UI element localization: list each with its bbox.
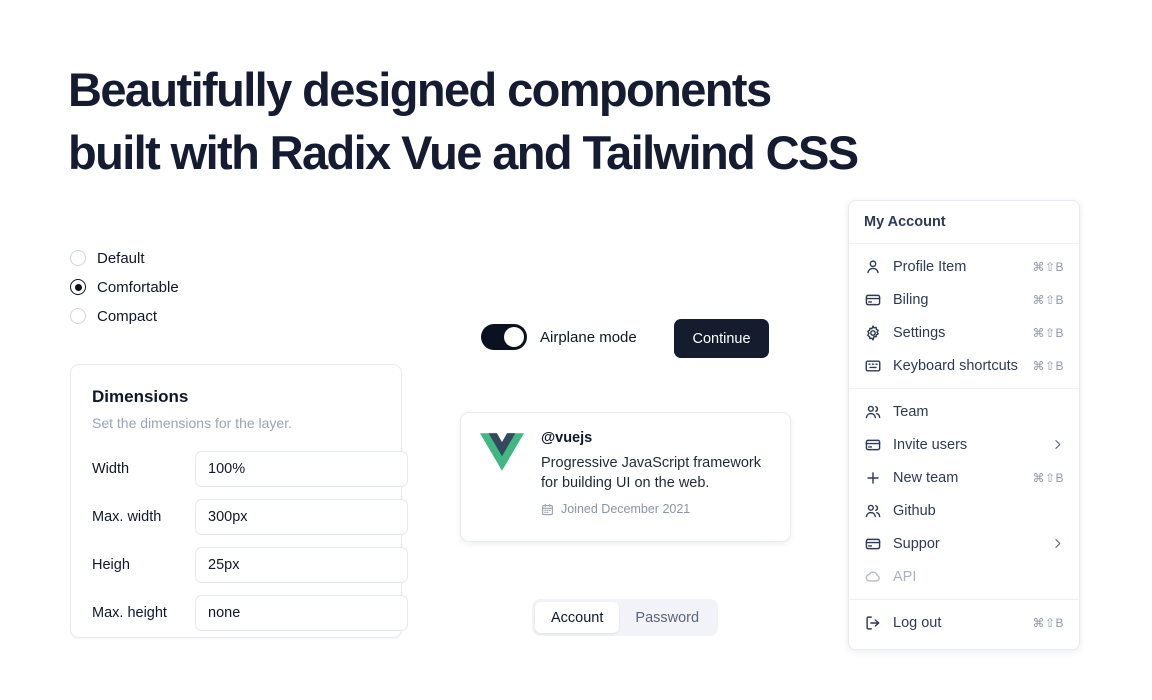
- dimension-label-max-width: Max. width: [92, 509, 195, 525]
- radio-label: Default: [97, 250, 145, 267]
- card-icon: [864, 291, 881, 308]
- menu-item-label: New team: [893, 470, 1020, 486]
- airplane-mode-switch[interactable]: [481, 324, 527, 350]
- menu-item-shortcut: ⌘⇧B: [1032, 471, 1064, 485]
- menu-item-label: Settings: [893, 325, 1020, 341]
- density-radio-group: DefaultComfortableCompact: [70, 248, 179, 326]
- chevron-right-icon: [1051, 537, 1064, 550]
- switch-knob: [504, 327, 524, 347]
- menu-item-label: Log out: [893, 615, 1020, 631]
- hero-section: Beautifully designed components built wi…: [68, 58, 1028, 184]
- dimension-row: Heigh: [92, 547, 380, 583]
- menu-item-api: API: [849, 560, 1079, 593]
- radio-indicator[interactable]: [70, 250, 86, 266]
- menu-groups: Profile Item⌘⇧BBiling⌘⇧BSettings⌘⇧BKeybo…: [849, 244, 1079, 645]
- menu-item-shortcut: ⌘⇧B: [1032, 359, 1064, 373]
- airplane-mode-label: Airplane mode: [540, 329, 637, 346]
- menu-item-new-team[interactable]: New team⌘⇧B: [849, 461, 1079, 494]
- radio-label: Compact: [97, 308, 157, 325]
- radio-indicator[interactable]: [70, 279, 86, 295]
- vuejs-description: Progressive JavaScript framework for bui…: [541, 453, 771, 493]
- radio-indicator[interactable]: [70, 308, 86, 324]
- dimension-row: Max. height: [92, 595, 380, 631]
- menu-item-shortcut: ⌘⇧B: [1032, 326, 1064, 340]
- menu-item-shortcut: ⌘⇧B: [1032, 293, 1064, 307]
- chevron-right-icon: [1051, 438, 1064, 451]
- page-title: Beautifully designed components built wi…: [68, 58, 1028, 184]
- menu-item-shortcut: ⌘⇧B: [1032, 260, 1064, 274]
- user-icon: [864, 258, 881, 275]
- dimension-label-max-height: Max. height: [92, 605, 195, 621]
- page-root: Beautifully designed components built wi…: [0, 0, 1152, 700]
- dimension-row: Max. width: [92, 499, 380, 535]
- menu-item-label: Team: [893, 404, 1064, 420]
- dimension-input-max-height[interactable]: [195, 595, 408, 631]
- menu-item-label: Profile Item: [893, 259, 1020, 275]
- dimension-label-width: Width: [92, 461, 195, 477]
- continue-button[interactable]: Continue: [674, 319, 769, 358]
- menu-group: TeamInvite usersNew team⌘⇧BGithubSupporA…: [849, 389, 1079, 599]
- cloud-icon: [864, 568, 881, 585]
- plus-icon: [864, 469, 881, 486]
- joined-text: Joined December 2021: [561, 502, 690, 516]
- tab-password[interactable]: Password: [619, 602, 715, 633]
- radio-option-comfortable[interactable]: Comfortable: [70, 277, 179, 297]
- menu-item-profile-item[interactable]: Profile Item⌘⇧B: [849, 250, 1079, 283]
- hover-card-body: @vuejs Progressive JavaScript framework …: [541, 430, 771, 524]
- calendar-icon: [541, 503, 554, 516]
- settings-tabs: AccountPassword: [532, 599, 718, 636]
- users-icon: [864, 502, 881, 519]
- logout-icon: [864, 614, 881, 631]
- menu-item-label: API: [893, 569, 1064, 585]
- keyboard-icon: [864, 357, 881, 374]
- radio-option-compact[interactable]: Compact: [70, 306, 179, 326]
- menu-item-github[interactable]: Github: [849, 494, 1079, 527]
- menu-item-label: Keyboard shortcuts: [893, 358, 1020, 374]
- vuejs-hover-card: @vuejs Progressive JavaScript framework …: [460, 412, 791, 542]
- dimensions-field-list: WidthMax. widthHeighMax. height: [92, 451, 380, 631]
- account-dropdown-menu: My Account Profile Item⌘⇧BBiling⌘⇧BSetti…: [848, 200, 1080, 650]
- menu-item-biling[interactable]: Biling⌘⇧B: [849, 283, 1079, 316]
- radio-label: Comfortable: [97, 279, 179, 296]
- dimension-input-width[interactable]: [195, 451, 408, 487]
- joined-row: Joined December 2021: [541, 502, 771, 516]
- gear-icon: [864, 324, 881, 341]
- dimension-label-heigh: Heigh: [92, 557, 195, 573]
- vue-logo-icon: [480, 432, 524, 472]
- radio-option-default[interactable]: Default: [70, 248, 179, 268]
- page-title-line-1: Beautifully designed components: [68, 58, 1028, 121]
- menu-item-label: Suppor: [893, 536, 1039, 552]
- menu-item-suppor[interactable]: Suppor: [849, 527, 1079, 560]
- airplane-mode-row: Airplane mode: [481, 324, 637, 350]
- menu-item-team[interactable]: Team: [849, 395, 1079, 428]
- dimensions-title: Dimensions: [92, 387, 380, 407]
- tab-account[interactable]: Account: [535, 602, 619, 633]
- menu-item-log-out[interactable]: Log out⌘⇧B: [849, 606, 1079, 639]
- dimensions-subtitle: Set the dimensions for the layer.: [92, 415, 380, 431]
- menu-item-label: Invite users: [893, 437, 1039, 453]
- card-icon: [864, 535, 881, 552]
- menu-group: Profile Item⌘⇧BBiling⌘⇧BSettings⌘⇧BKeybo…: [849, 244, 1079, 388]
- card-icon: [864, 436, 881, 453]
- menu-item-invite-users[interactable]: Invite users: [849, 428, 1079, 461]
- vuejs-handle: @vuejs: [541, 430, 771, 446]
- menu-item-shortcut: ⌘⇧B: [1032, 616, 1064, 630]
- menu-group: Log out⌘⇧B: [849, 600, 1079, 645]
- menu-item-label: Biling: [893, 292, 1020, 308]
- dimension-row: Width: [92, 451, 380, 487]
- dimensions-card: Dimensions Set the dimensions for the la…: [70, 364, 402, 638]
- dimension-input-heigh[interactable]: [195, 547, 408, 583]
- page-title-line-2: built with Radix Vue and Tailwind CSS: [68, 121, 1028, 184]
- dimension-input-max-width[interactable]: [195, 499, 408, 535]
- menu-header: My Account: [849, 201, 1079, 243]
- menu-item-settings[interactable]: Settings⌘⇧B: [849, 316, 1079, 349]
- menu-item-keyboard-shortcuts[interactable]: Keyboard shortcuts⌘⇧B: [849, 349, 1079, 382]
- users-icon: [864, 403, 881, 420]
- menu-item-label: Github: [893, 503, 1064, 519]
